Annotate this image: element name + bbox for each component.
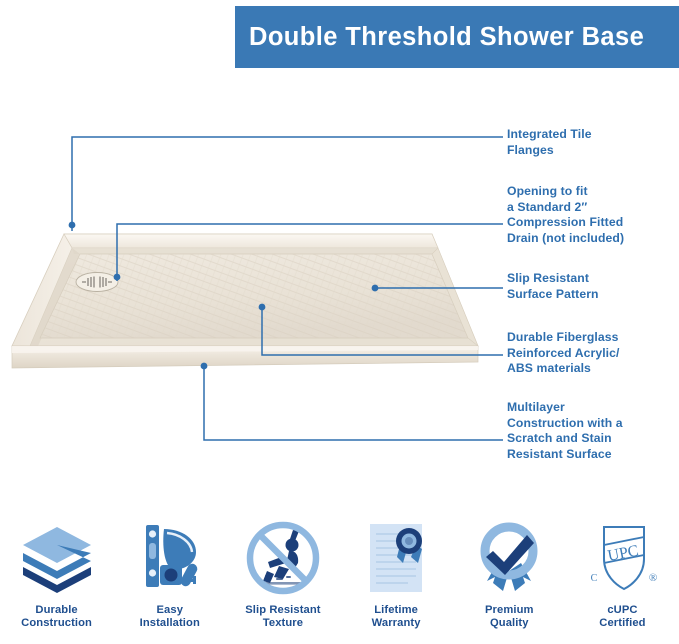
feature-premium-quality: Premium Quality	[453, 519, 566, 644]
feature-label-premium-quality: Premium Quality	[485, 604, 534, 631]
rear-threshold-rim	[64, 234, 438, 248]
check-rosette-icon	[469, 519, 549, 597]
feature-lifetime-warranty: Lifetime Warranty	[340, 519, 453, 644]
callout-multilayer-construction: Multilayer Construction with a Scratch a…	[507, 400, 679, 462]
layers-icon	[17, 519, 97, 597]
slip-resistant-texture	[40, 254, 468, 338]
feature-easy-installation: Easy Installation	[113, 519, 226, 644]
shower-base-illustration	[0, 196, 500, 386]
title-banner: Double Threshold Shower Base	[235, 6, 679, 68]
feature-label-durable-construction: Durable Construction	[21, 604, 92, 631]
seal-core	[405, 537, 413, 545]
shield-registered-mark: ®	[649, 572, 657, 584]
callout-durable-materials: Durable Fiberglass Reinforced Acrylic/ A…	[507, 330, 679, 377]
callout-slip-resistant-surface: Slip Resistant Surface Pattern	[507, 271, 675, 302]
feature-slip-resistant: Slip Resistant Texture	[226, 519, 339, 644]
page-title: Double Threshold Shower Base	[249, 23, 644, 52]
trowel-level-icon	[130, 519, 210, 597]
product-infographic: Double Threshold Shower Base	[0, 0, 679, 644]
shield-c-mark: C	[591, 573, 598, 584]
drain-opening	[76, 273, 118, 292]
callout-drain-opening: Opening to fit a Standard 2″ Compression…	[507, 184, 679, 246]
spirit-level-vial	[149, 543, 156, 559]
spirit-level-bubble-bottom	[149, 569, 156, 576]
tape-measure-reel	[164, 569, 177, 582]
callout-integrated-tile-flanges: Integrated Tile Flanges	[507, 127, 675, 158]
feature-label-slip-resistant: Slip Resistant Texture	[245, 604, 320, 631]
spirit-level-bubble-top	[149, 530, 156, 537]
shield-upc-text: UPC	[607, 542, 641, 565]
feature-label-cupc-certified: cUPC Certified	[599, 604, 645, 631]
feature-strip: Durable Construction Easy Ins	[0, 519, 679, 644]
feature-durable-construction: Durable Construction	[0, 519, 113, 644]
feature-label-lifetime-warranty: Lifetime Warranty	[372, 604, 421, 631]
upc-shield-icon: UPC C ®	[582, 519, 662, 597]
tape-measure-hook	[193, 576, 196, 584]
certificate-icon	[356, 519, 436, 597]
feature-label-easy-installation: Easy Installation	[140, 604, 200, 631]
feature-cupc-certified: UPC C ® cUPC Certified	[566, 519, 679, 644]
person-head	[285, 539, 298, 552]
layer-bottom	[23, 567, 91, 593]
rear-threshold-inner-shadow	[72, 248, 440, 254]
no-slip-icon	[243, 519, 323, 597]
